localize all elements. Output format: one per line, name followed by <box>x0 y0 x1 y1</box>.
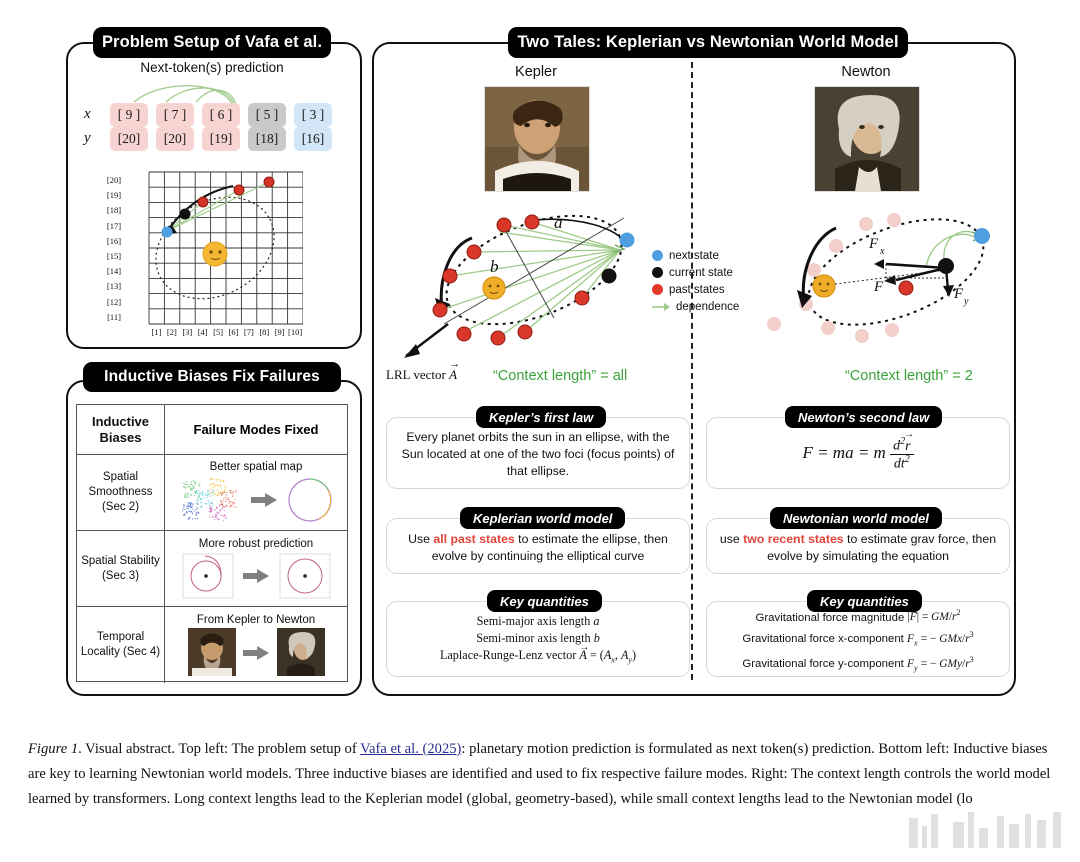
column-header-biases: Inductive Biases <box>77 405 165 454</box>
legend-label: next state <box>669 250 719 262</box>
dependence-arrow-icon <box>652 302 670 312</box>
grid-y-label: [12] <box>102 297 126 307</box>
svg-text:F: F <box>953 286 964 302</box>
arrow-right-icon <box>251 492 278 507</box>
failure-mode-cell: Better spatial map <box>165 455 347 530</box>
token-cell: [16] <box>294 127 332 151</box>
failure-caption: From Kepler to Newton <box>197 614 315 626</box>
bias-name: Temporal Locality (Sec 4) <box>77 607 165 683</box>
failure-mode-cell: More robust prediction <box>165 531 347 606</box>
inductive-bias-table: Inductive Biases Failure Modes Fixed Spa… <box>76 404 348 682</box>
svg-text:F: F <box>868 236 879 252</box>
token-cell: [ 7 ] <box>156 103 194 127</box>
newtonian-world-model-pill: Newtonian world model <box>770 507 942 529</box>
table-header-row: Inductive Biases Failure Modes Fixed <box>77 405 347 455</box>
orbit-grid-plot <box>127 170 303 330</box>
token-row-label-y: y <box>84 130 91 147</box>
kepler-key-quantities-box: Semi-major axis length a Semi-minor axis… <box>386 601 690 677</box>
spiral-orbit-plot-icon <box>180 552 236 600</box>
caption-citation-link[interactable]: Vafa et al. (2025) <box>360 741 461 757</box>
kepler-portrait-thumb-icon <box>188 628 236 676</box>
kepler-first-law-text: Every planet orbits the sun in an ellips… <box>395 429 681 480</box>
svg-text:F: F <box>873 279 884 295</box>
token-cell: [20] <box>110 127 148 151</box>
figure-caption: Figure 1. Visual abstract. Top left: The… <box>28 737 1058 812</box>
grid-y-label: [18] <box>102 205 126 215</box>
newton-heading: Newton <box>786 64 946 80</box>
svg-text:a: a <box>554 213 563 232</box>
grid-y-label: [17] <box>102 221 126 231</box>
legend-label: dependence <box>676 301 739 313</box>
legend-label: past states <box>669 284 725 296</box>
panel-bias-title: Inductive Biases Fix Failures <box>83 362 341 392</box>
token-cell: [ 6 ] <box>202 103 240 127</box>
token-cell: [ 3 ] <box>294 103 332 127</box>
key-quantity-line: Gravitational force x-component Fx = − G… <box>742 626 973 651</box>
figure-root: Problem Setup of Vafa et al. Next-token(… <box>0 0 1080 862</box>
arrow-right-icon <box>243 645 270 660</box>
keplerian-world-model-pill: Keplerian world model <box>460 507 625 529</box>
next-state-dot-icon <box>652 250 663 261</box>
failure-mode-cell: From Kepler to Newton <box>165 607 347 683</box>
state-legend: next state current state past states dep… <box>652 247 739 315</box>
caption-part1: . Visual abstract. Top left: The problem… <box>78 741 360 757</box>
past-states-dot-icon <box>652 284 663 295</box>
caption-figure-number: Figure 1 <box>28 741 78 757</box>
arrow-right-icon <box>243 568 270 583</box>
kepler-portrait <box>484 86 590 192</box>
keplerian-model-text: Use all past states to estimate the elli… <box>395 531 681 565</box>
panel-right-title: Two Tales: Keplerian vs Newtonian World … <box>508 27 908 58</box>
grid-y-label: [13] <box>102 281 126 291</box>
lrl-vector-label: LRL vector A → <box>386 367 457 383</box>
svg-text:y: y <box>963 296 969 307</box>
legend-item: next state <box>652 247 739 264</box>
kepler-key-quantities-pill: Key quantities <box>487 590 602 612</box>
token-cell: [18] <box>248 127 286 151</box>
kepler-first-law-pill: Kepler’s first law <box>476 406 606 428</box>
newton-portrait-thumb-icon <box>277 628 325 676</box>
sun-icon <box>813 275 835 297</box>
legend-label: current state <box>669 267 733 279</box>
bias-name: Spatial Stability (Sec 3) <box>77 531 165 606</box>
newton-second-law-pill: Newton’s second law <box>785 406 942 428</box>
table-row: Spatial Stability (Sec 3) More robust pr… <box>77 531 347 607</box>
key-quantity-line: Semi-major axis length a <box>477 613 600 630</box>
newton-context-length-label: “Context length” = 2 <box>845 368 973 384</box>
token-cell: [20] <box>156 127 194 151</box>
token-cell: [19] <box>202 127 240 151</box>
sun-icon <box>483 277 505 299</box>
newton-key-quantities-box: Gravitational force magnitude |F→| = GM/… <box>706 601 1010 677</box>
newtonian-highlight: two recent states <box>743 532 843 546</box>
kepler-heading: Kepler <box>456 64 616 80</box>
grid-y-label: [15] <box>102 251 126 261</box>
legend-item: dependence <box>652 298 739 315</box>
newton-second-law-formula: F = ma = m d2r→ dt2 <box>802 437 913 472</box>
token-cell: [ 9 ] <box>110 103 148 127</box>
panel-problem-title: Problem Setup of Vafa et al. <box>93 27 331 58</box>
table-row: Spatial Smoothness (Sec 2) Better spatia… <box>77 455 347 531</box>
next-token-subtitle: Next-token(s) prediction <box>66 60 358 75</box>
token-row-label-x: x <box>84 106 91 123</box>
grid-x-label: [10] <box>282 327 308 337</box>
watermark <box>905 800 1070 848</box>
kepler-context-length-label: “Context length” = all <box>493 368 627 384</box>
grid-y-label: [16] <box>102 236 126 246</box>
failure-caption: More robust prediction <box>199 538 313 550</box>
stable-orbit-plot-icon <box>277 552 333 600</box>
key-quantity-line: Gravitational force y-component Fy = − G… <box>742 651 973 676</box>
vertical-divider <box>691 62 693 680</box>
table-row: Temporal Locality (Sec 4) From Kepler to… <box>77 607 347 683</box>
svg-text:x: x <box>879 246 885 257</box>
newton-key-quantities-pill: Key quantities <box>807 590 922 612</box>
key-quantity-line: Laplace-Runge-Lenz vector A→ = (Ax, Ay) <box>440 647 636 668</box>
newtonian-model-text: use two recent states to estimate grav f… <box>715 531 1001 565</box>
grid-y-label: [14] <box>102 266 126 276</box>
keplerian-highlight: all past states <box>433 532 514 546</box>
current-state-dot-icon <box>652 267 663 278</box>
svg-text:b: b <box>490 257 499 276</box>
grid-y-label: [11] <box>102 312 126 322</box>
failure-caption: Better spatial map <box>210 461 303 473</box>
grid-y-label: [19] <box>102 190 126 200</box>
legend-item: past states <box>652 281 739 298</box>
smooth-circle-icon <box>285 475 335 525</box>
token-cell: [ 5 ] <box>248 103 286 127</box>
bias-name: Spatial Smoothness (Sec 2) <box>77 455 165 530</box>
legend-item: current state <box>652 264 739 281</box>
column-header-failures: Failure Modes Fixed <box>165 405 347 454</box>
grid-y-label: [20] <box>102 175 126 185</box>
scatter-cluster-icon <box>178 475 244 525</box>
kepler-orbit-diagram: a b <box>382 198 682 358</box>
newton-portrait <box>814 86 920 192</box>
newton-orbit-diagram: F x F F y <box>766 198 1016 358</box>
sun-icon <box>203 242 227 266</box>
